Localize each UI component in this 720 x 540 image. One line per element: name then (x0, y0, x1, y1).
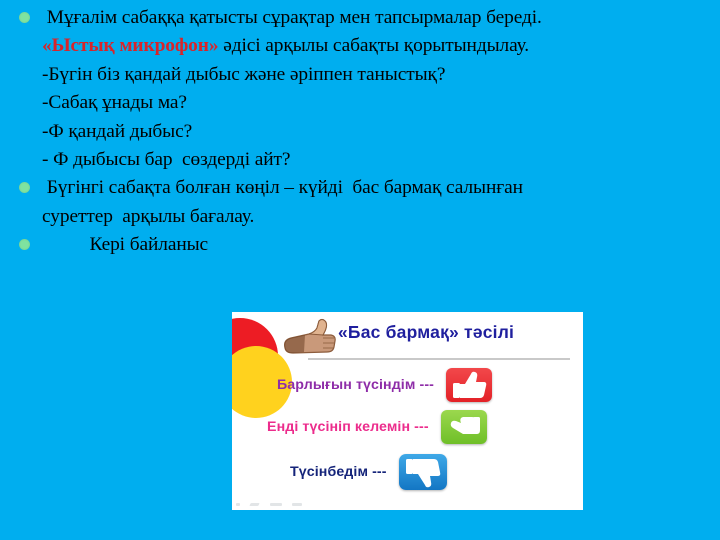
thumbs-up-badge-icon (446, 368, 492, 402)
option-row-partially-understood: Енді түсініп келемін --- (267, 410, 487, 444)
body-line-text: әдісі арқылы сабақты қорытындылау. (218, 35, 529, 56)
embedded-image-thumbs-method: «Бас бармақ» тәсілі Барлығын түсіндім --… (232, 312, 583, 510)
thumb-sideways-badge-icon (441, 410, 487, 444)
option-label: Түсінбедім --- (290, 464, 387, 480)
option-row-understood-all: Барлығын түсіндім --- (277, 368, 492, 402)
bullet-paragraph-3: Кері байланыс (8, 231, 712, 259)
body-line: Кері байланыс (42, 231, 712, 259)
option-label: Барлығын түсіндім --- (277, 377, 434, 393)
picture-title: «Бас бармақ» тәсілі (338, 322, 514, 343)
body-line: Мұғалім сабаққа қатысты сұрақтар мен тап… (42, 4, 712, 32)
option-label: Енді түсініп келемін --- (267, 419, 429, 435)
bullet-paragraph-2: Бүгінгі сабақта болған көңіл – күйді бас… (8, 174, 712, 231)
body-line: - Ф дыбысы бар сөздерді айт? (42, 146, 712, 174)
hand-thumbs-up-icon (279, 318, 337, 356)
slide-canvas: Мұғалім сабаққа қатысты сұрақтар мен тап… (0, 0, 720, 540)
body-line: -Бүгін біз қандай дыбыс және әріппен тан… (42, 61, 712, 89)
image-watermark (236, 496, 346, 506)
method-name-emphasis: «Ыстық микрофон» (42, 35, 218, 56)
option-row-not-understood: Түсінбедім --- (290, 454, 447, 490)
bullet-dot-icon (19, 182, 30, 193)
thumbs-down-badge-icon (399, 454, 447, 490)
body-line: -Ф қандай дыбыс? (42, 118, 712, 146)
picture-divider (308, 358, 570, 360)
slide-body-text: Мұғалім сабаққа қатысты сұрақтар мен тап… (0, 0, 720, 260)
bullet-dot-icon (19, 12, 30, 23)
picture-header: «Бас бармақ» тәсілі (232, 316, 583, 360)
body-line: -Сабақ ұнады ма? (42, 89, 712, 117)
body-line-with-emphasis: «Ыстық микрофон» әдісі арқылы сабақты қо… (42, 32, 712, 60)
body-line: суреттер арқылы бағалау. (42, 203, 712, 231)
body-line: Бүгінгі сабақта болған көңіл – күйді бас… (42, 174, 712, 202)
bullet-paragraph-1: Мұғалім сабаққа қатысты сұрақтар мен тап… (8, 4, 712, 174)
bullet-dot-icon (19, 239, 30, 250)
